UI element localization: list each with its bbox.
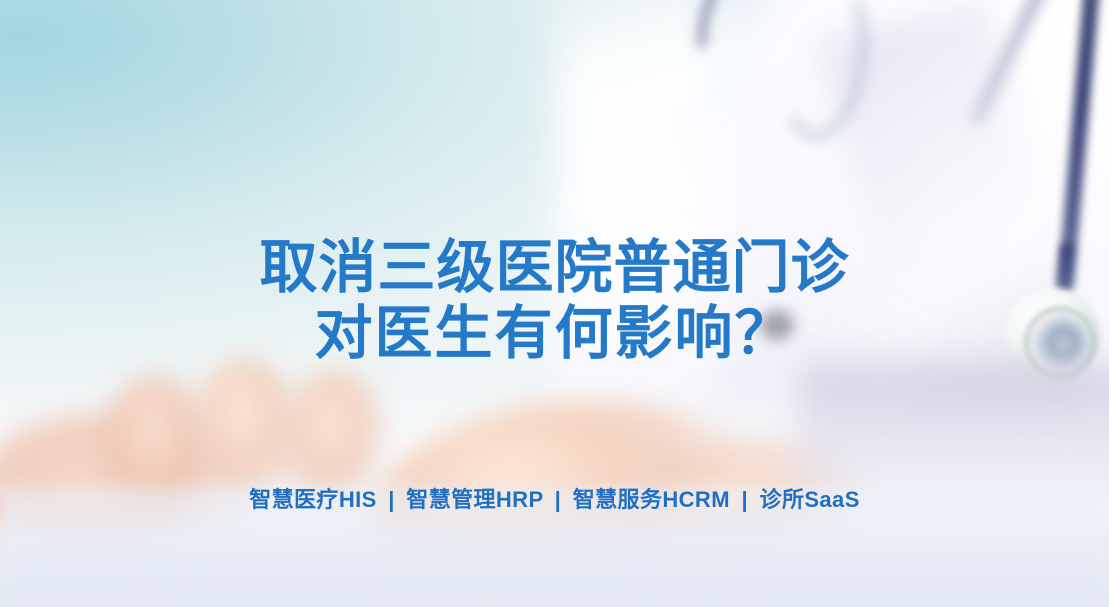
banner-canvas: 取消三级医院普通门诊 对医生有何影响？ 智慧医疗HIS | 智慧管理HRP | … (0, 0, 1109, 607)
banner-content: 取消三级医院普通门诊 对医生有何影响？ 智慧医疗HIS | 智慧管理HRP | … (0, 0, 1109, 607)
tagline-separator-3: | (736, 487, 753, 512)
product-tagline: 智慧医疗HIS | 智慧管理HRP | 智慧服务HCRM | 诊所SaaS (0, 486, 1109, 514)
tagline-item-his: 智慧医疗HIS (249, 487, 376, 512)
headline-line-1: 取消三级医院普通门诊 (0, 235, 1109, 301)
tagline-separator-1: | (383, 487, 400, 512)
headline-line-2: 对医生有何影响？ (0, 301, 1109, 367)
tagline-item-hcrm: 智慧服务HCRM (573, 487, 730, 512)
tagline-separator-2: | (550, 487, 567, 512)
tagline-item-saas: 诊所SaaS (760, 487, 860, 512)
tagline-item-hrp: 智慧管理HRP (406, 487, 543, 512)
page-title: 取消三级医院普通门诊 对医生有何影响？ (0, 235, 1109, 367)
